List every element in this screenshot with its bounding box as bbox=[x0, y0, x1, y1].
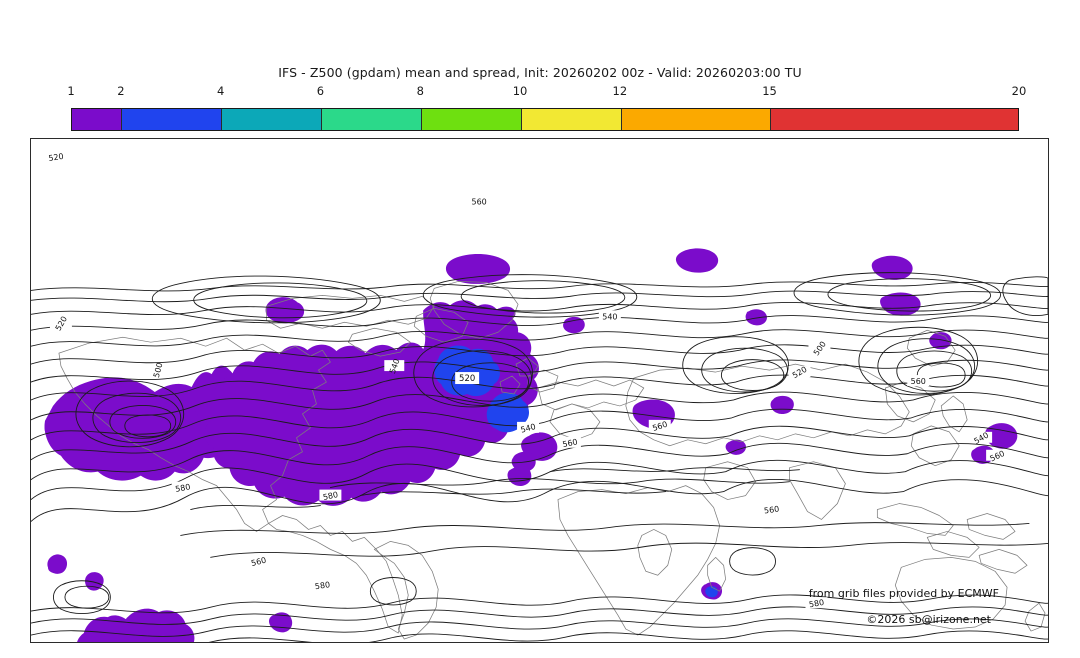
colorbar-tick-12: 12 bbox=[613, 84, 628, 98]
colorbar-band-10-12 bbox=[521, 109, 621, 130]
svg-text:560: 560 bbox=[472, 198, 487, 207]
copyright-credit: ©2026 sb@irizone.net bbox=[866, 613, 991, 626]
colorbar-tick-1: 1 bbox=[67, 84, 74, 98]
colorbar-tick-20: 20 bbox=[1012, 84, 1027, 98]
colorbar-tick-4: 4 bbox=[217, 84, 224, 98]
svg-text:520: 520 bbox=[459, 373, 475, 383]
colorbar-band-1-2 bbox=[72, 109, 121, 130]
colorbar-band-8-10 bbox=[421, 109, 521, 130]
colorbar-band-2-4 bbox=[121, 109, 221, 130]
colorbar-band-12-15 bbox=[621, 109, 770, 130]
colorbar bbox=[71, 108, 1019, 131]
map-canvas: 520 520 500 520 bbox=[31, 139, 1048, 642]
svg-text:540: 540 bbox=[602, 312, 617, 321]
colorbar-band-6-8 bbox=[321, 109, 421, 130]
colorbar-band-4-6 bbox=[221, 109, 321, 130]
colorbar-tick-labels: 1246810121520 bbox=[71, 84, 1019, 104]
colorbar-tick-6: 6 bbox=[317, 84, 324, 98]
colorbar-tick-15: 15 bbox=[762, 84, 777, 98]
source-credit: from grib files provided by ECMWF bbox=[809, 587, 999, 600]
spread-shading-layer bbox=[31, 248, 1028, 642]
colorbar-tick-8: 8 bbox=[417, 84, 424, 98]
page-title: IFS - Z500 (gpdam) mean and spread, Init… bbox=[0, 65, 1080, 80]
colorbar-band-15-20 bbox=[770, 109, 1018, 130]
colorbar-tick-2: 2 bbox=[117, 84, 124, 98]
chart-page: IFS - Z500 (gpdam) mean and spread, Init… bbox=[0, 0, 1080, 658]
svg-text:560: 560 bbox=[911, 377, 926, 386]
colorbar-tick-10: 10 bbox=[513, 84, 528, 98]
map-panel: 520 520 500 520 bbox=[30, 138, 1049, 643]
